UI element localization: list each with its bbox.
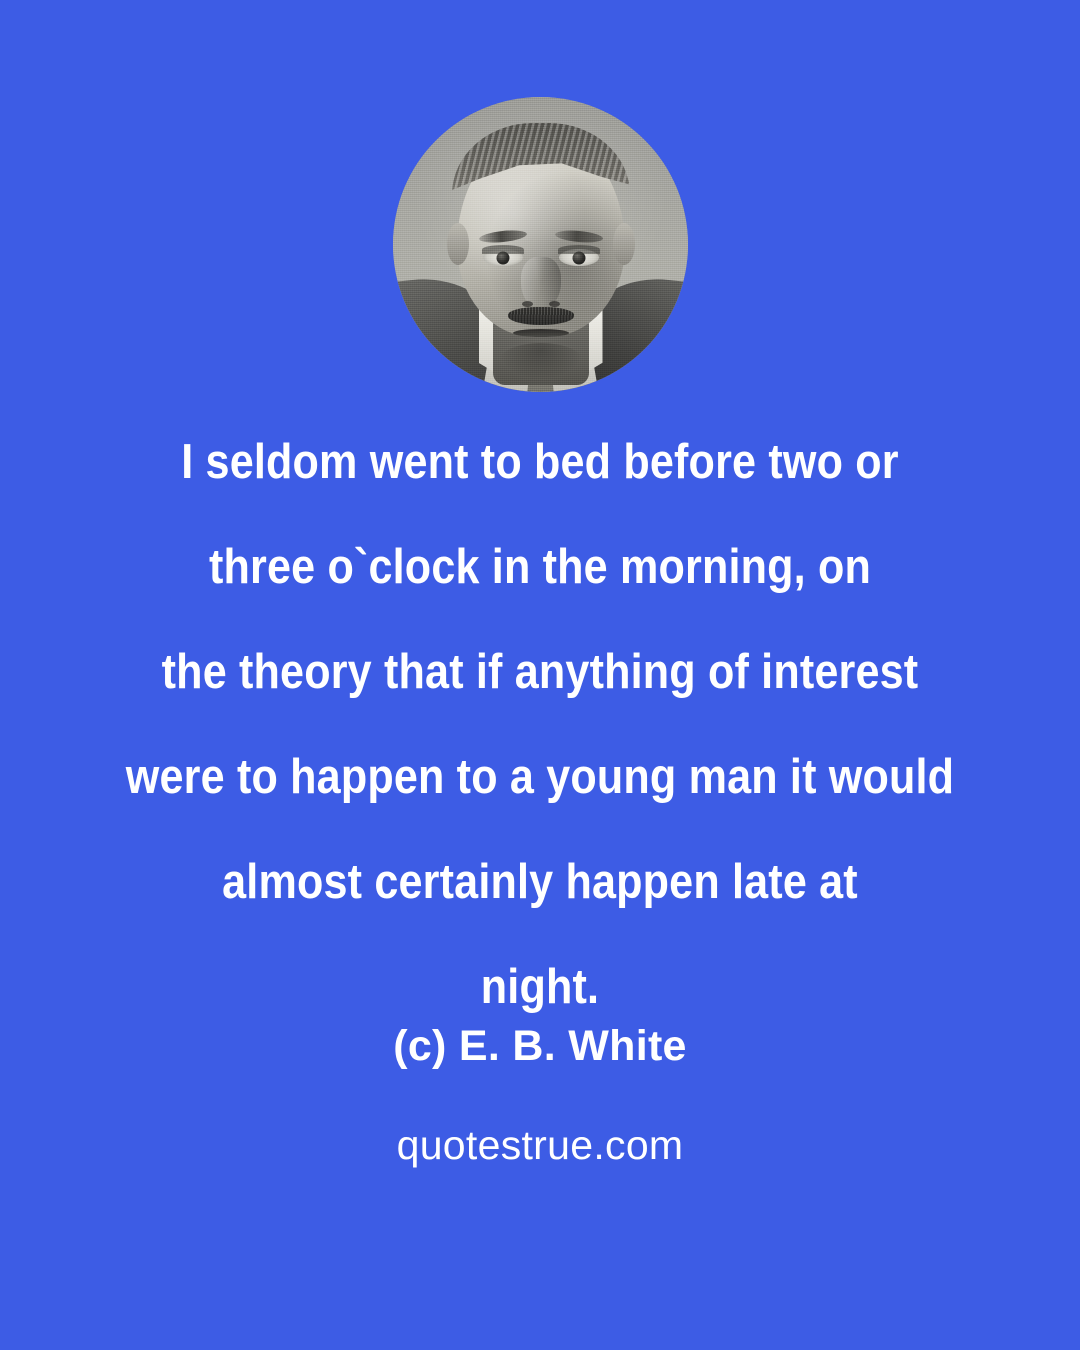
ear-right — [613, 223, 635, 265]
ear-left — [447, 223, 469, 265]
mouth — [513, 329, 569, 337]
quote-text: I seldom went to bed before two or three… — [65, 410, 1015, 1040]
eyelid-right — [558, 245, 600, 254]
eyelid-left — [482, 245, 524, 254]
portrait-photo-icon — [393, 97, 688, 392]
moustache — [508, 307, 574, 325]
nostril-left — [522, 301, 533, 307]
quote-author: (c) E. B. White — [0, 1022, 1080, 1071]
quote-card: I seldom went to bed before two or three… — [0, 0, 1080, 1350]
website-label: quotestrue.com — [0, 1122, 1080, 1169]
chin-shadow — [499, 343, 583, 379]
nostril-right — [549, 301, 560, 307]
author-portrait — [393, 97, 688, 392]
